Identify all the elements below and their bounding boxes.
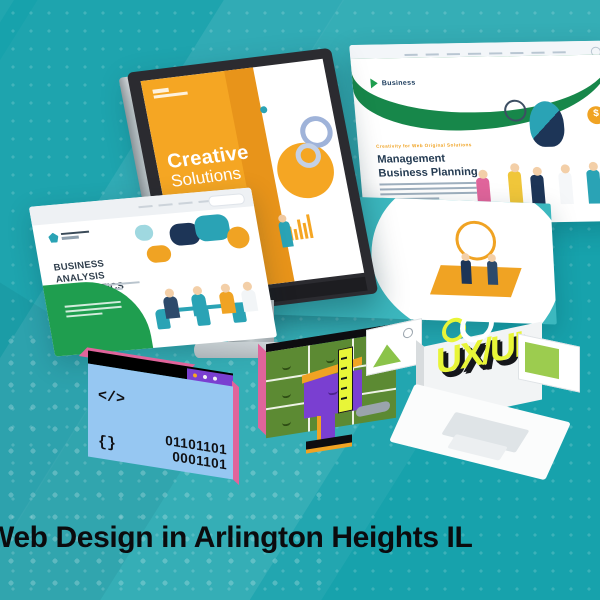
window-frame-edge xyxy=(232,381,239,486)
dot-accent xyxy=(260,106,268,114)
cabinet-stand-neck xyxy=(321,414,335,440)
ramp-shape xyxy=(430,265,522,297)
code-tag-icon: </> xyxy=(98,387,125,408)
person-figure xyxy=(558,172,574,204)
blob-copy-placeholder xyxy=(65,301,124,321)
uxui-laptop-illustration: UX/UI xyxy=(390,322,570,482)
mountain-icon xyxy=(373,342,401,368)
heading-line-1: Management xyxy=(377,153,446,166)
heading-line-1: BUSINESS ANALYSIS xyxy=(53,258,106,285)
gear-icon xyxy=(225,226,251,250)
drawer-handle xyxy=(328,389,338,396)
stopwatch-icon xyxy=(503,100,527,122)
mission-illustration xyxy=(413,209,540,316)
person-figure xyxy=(487,261,498,285)
speech-bubble xyxy=(134,224,155,241)
person-figure xyxy=(191,293,209,316)
person-figure xyxy=(163,296,181,319)
kicker-text: Creativity for Web Original Solutions xyxy=(376,142,472,149)
site-logo xyxy=(48,229,94,243)
person-figure xyxy=(507,171,523,205)
logo-text: Business xyxy=(381,79,415,87)
heading-line-2: Business Planning xyxy=(378,166,478,180)
lightbulb-icon xyxy=(528,101,566,147)
person-figure xyxy=(461,260,472,284)
speech-bubble xyxy=(145,245,172,264)
team-illustration: $ xyxy=(457,70,600,219)
person-figure xyxy=(241,289,259,312)
ruler-icon xyxy=(338,346,353,413)
speech-bubble xyxy=(193,214,232,243)
site-logo: Business xyxy=(370,78,416,89)
coin-icon: $ xyxy=(587,106,600,124)
sun-icon xyxy=(403,327,413,339)
person-figure xyxy=(530,175,546,205)
page-title: Web Design in Arlington Heights IL xyxy=(0,521,472,555)
wireframe-block xyxy=(525,342,559,379)
meeting-illustration xyxy=(131,210,270,339)
chevron-icon xyxy=(370,78,378,88)
logo-wordmark xyxy=(61,231,91,242)
person-figure xyxy=(219,291,237,314)
code-brace-icon: {} xyxy=(98,433,116,453)
business-analysis-website-mockup: BUSINESS ANALYSIS & STATISTICS xyxy=(29,187,277,356)
binary-text: 01101101 0001101 xyxy=(165,433,227,474)
hero-graphic: Business Creativity for Web Original Sol… xyxy=(0,0,600,600)
browser-search-field[interactable] xyxy=(208,193,246,207)
person-figure xyxy=(586,170,600,204)
logo-mark-icon xyxy=(48,232,60,243)
